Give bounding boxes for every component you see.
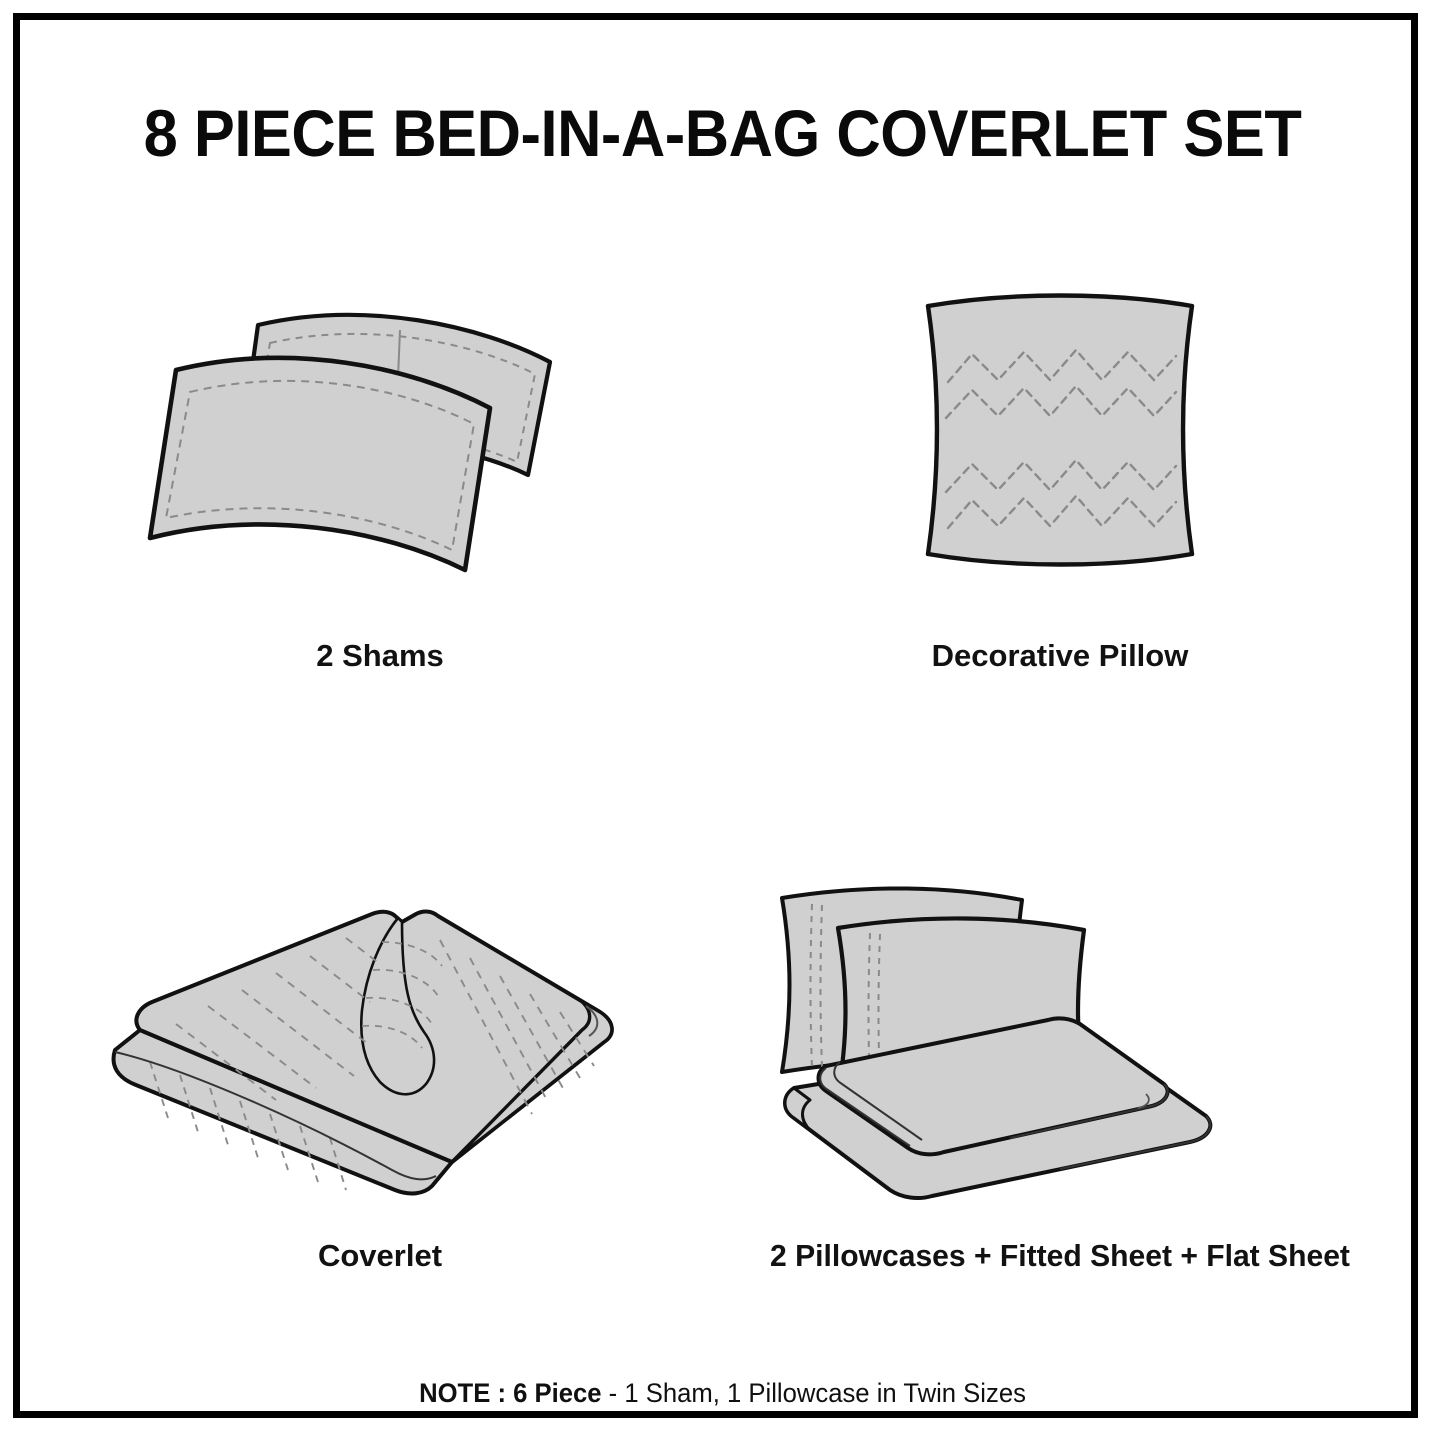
footer-note-prefix: NOTE : xyxy=(419,1378,513,1408)
item-label-shams: 2 Shams xyxy=(80,638,680,674)
item-label-decorative-pillow: Decorative Pillow xyxy=(760,638,1360,674)
item-card-coverlet: Coverlet xyxy=(80,870,680,1300)
item-label-sheets: 2 Pillowcases + Fitted Sheet + Flat Shee… xyxy=(769,1238,1351,1274)
decorative-pillow-icon xyxy=(760,270,1360,630)
page-title: 8 PIECE BED-IN-A-BAG COVERLET SET xyxy=(51,95,1395,171)
item-card-shams: 2 Shams xyxy=(80,270,680,700)
footer-note: NOTE : 6 Piece - 1 Sham, 1 Pillowcase in… xyxy=(36,1378,1409,1409)
pillowcases-and-sheets-icon xyxy=(760,870,1360,1230)
folded-coverlet-icon xyxy=(80,870,680,1230)
product-infographic-poster: 8 PIECE BED-IN-A-BAG COVERLET SET 2 Sham… xyxy=(0,0,1445,1445)
item-card-sheets: 2 Pillowcases + Fitted Sheet + Flat Shee… xyxy=(760,870,1360,1300)
two-shams-icon xyxy=(80,270,680,630)
footer-note-detail: - 1 Sham, 1 Pillowcase in Twin Sizes xyxy=(602,1378,1026,1408)
item-label-coverlet: Coverlet xyxy=(80,1238,680,1274)
footer-note-emphasis: 6 Piece xyxy=(513,1378,601,1408)
item-card-decorative-pillow: Decorative Pillow xyxy=(760,270,1360,700)
